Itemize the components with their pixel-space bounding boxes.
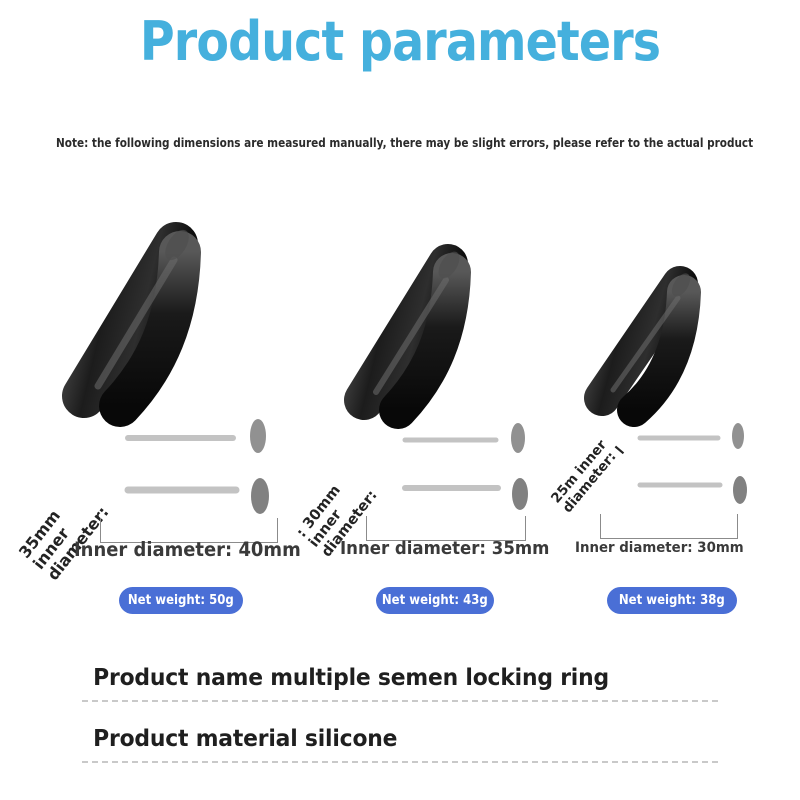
net-weight-badge-large: Net weight: 50g (119, 587, 243, 614)
spec-row-product-material: Product material silicone (82, 702, 718, 763)
page-title: Product parameters (48, 14, 752, 71)
spec-divider (82, 761, 718, 763)
inner-diameter-caption-small: Inner diameter: 30mm (575, 540, 744, 556)
measurement-note: Note: the following dimensions are measu… (56, 136, 744, 150)
net-weight-badge-medium: Net weight: 43g (376, 587, 494, 614)
dimension-bracket-small (600, 514, 738, 539)
net-weight-badge-label: Net weight: 43g (382, 593, 488, 608)
net-weight-badge-small: Net weight: 38g (607, 587, 737, 614)
spec-row-product-name-text: Product name multiple semen locking ring (82, 655, 673, 700)
inner-diameter-caption-medium: Inner diameter: 35mm (340, 538, 549, 559)
spec-list: Product name multiple semen locking ring… (82, 655, 718, 763)
net-weight-badge-label: Net weight: 50g (128, 593, 234, 608)
spec-row-product-material-text: Product material silicone (82, 702, 673, 761)
net-weight-badge-label: Net weight: 38g (619, 593, 725, 608)
product-illustration-large (28, 200, 318, 530)
spec-row-product-name: Product name multiple semen locking ring (82, 655, 718, 702)
inner-diameter-caption-large: Inner diameter: 40mm (74, 538, 301, 561)
